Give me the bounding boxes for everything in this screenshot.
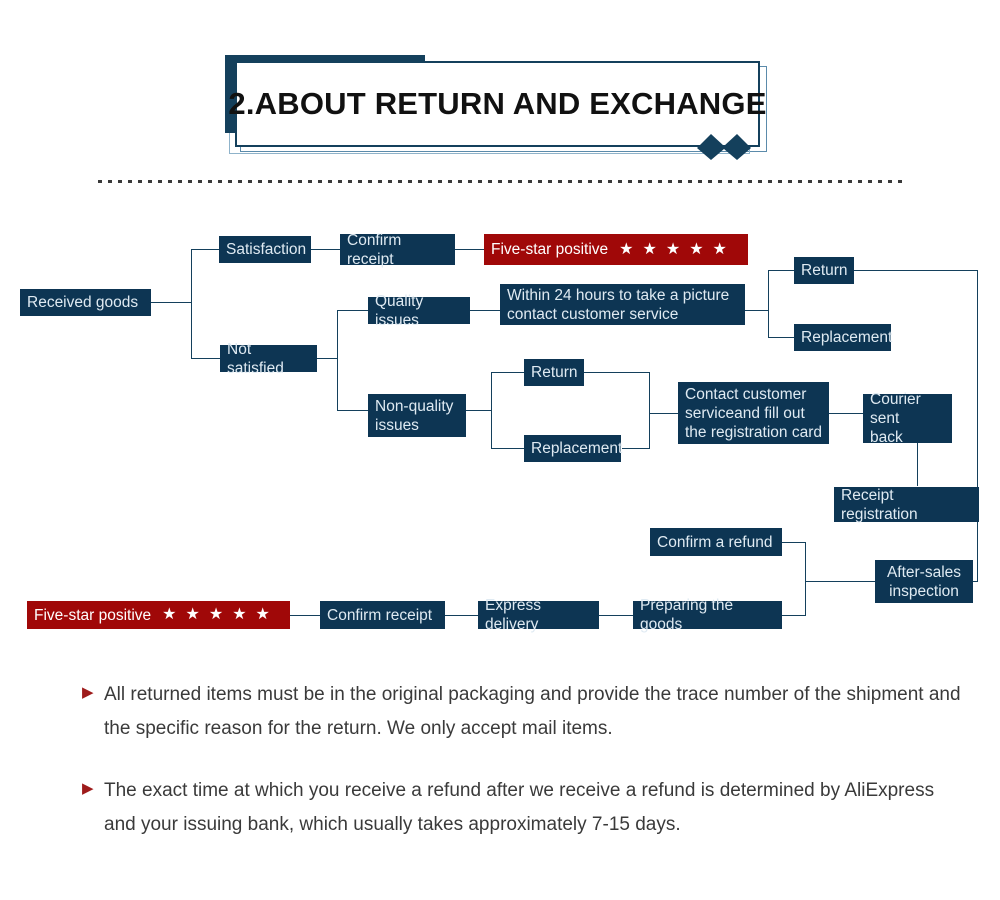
- connector: [768, 270, 769, 337]
- flow-node-received-goods[interactable]: Received goods: [20, 289, 151, 316]
- flow-node-preparing-the-goods[interactable]: Preparing the goods: [633, 601, 782, 629]
- triangle-bullet-icon: ▶: [82, 678, 104, 746]
- flow-node-five-star-positive-bottom[interactable]: Five-star positive ★ ★ ★ ★ ★: [27, 601, 290, 629]
- flow-node-courier-sent-back[interactable]: Courier sent back: [863, 394, 952, 443]
- connector: [454, 249, 485, 250]
- connector: [150, 302, 192, 303]
- connector: [768, 270, 795, 271]
- star-icon: ★: [209, 607, 223, 623]
- connector: [491, 372, 525, 373]
- connector: [649, 413, 679, 414]
- five-star-label-bottom: Five-star positive: [34, 606, 151, 625]
- star-icon: ★: [689, 242, 703, 258]
- connector: [337, 410, 369, 411]
- connector: [917, 443, 918, 486]
- star-icon: ★: [619, 242, 633, 258]
- flow-node-non-quality-issues[interactable]: Non-quality issues: [368, 394, 466, 437]
- page-root: 2.ABOUT RETURN AND EXCHANGE: [0, 0, 1000, 900]
- connector: [191, 249, 221, 250]
- connector: [828, 413, 864, 414]
- connector: [491, 448, 525, 449]
- flow-node-express-delivery[interactable]: Express delivery: [478, 601, 599, 629]
- flow-node-confirm-receipt-bottom[interactable]: Confirm receipt: [320, 601, 445, 629]
- flow-node-confirm-a-refund[interactable]: Confirm a refund: [650, 528, 782, 556]
- triangle-bullet-icon: ▶: [82, 774, 104, 842]
- note-text: The exact time at which you receive a re…: [104, 774, 962, 842]
- flow-node-within-24-hours[interactable]: Within 24 hours to take a picture contac…: [500, 284, 745, 325]
- star-icon: ★: [666, 242, 680, 258]
- connector: [289, 615, 320, 616]
- connector: [337, 310, 338, 410]
- flow-node-contact-customer-service[interactable]: Contact customer serviceand fill out the…: [678, 382, 829, 444]
- note-text: All returned items must be in the origin…: [104, 678, 962, 746]
- star-icon: ★: [186, 607, 200, 623]
- connector: [782, 542, 806, 543]
- flow-node-after-sales-inspection[interactable]: After-sales inspection: [875, 560, 973, 603]
- connector: [853, 270, 977, 271]
- connector: [491, 372, 492, 449]
- connector: [191, 358, 221, 359]
- connector: [649, 372, 650, 449]
- connector: [598, 615, 634, 616]
- flow-node-replacement-mid[interactable]: Replacement: [524, 435, 621, 462]
- flow-node-confirm-receipt-top[interactable]: Confirm receipt: [340, 234, 455, 265]
- flow-node-replacement-top[interactable]: Replacement: [794, 324, 891, 351]
- flow-node-not-satisfied[interactable]: Not satisfied: [220, 345, 317, 372]
- connector: [583, 372, 650, 373]
- connector: [310, 249, 341, 250]
- star-icon: ★: [713, 242, 727, 258]
- flow-node-quality-issues[interactable]: Quality issues: [368, 297, 470, 324]
- five-star-rating-bottom: ★ ★ ★ ★ ★: [162, 607, 270, 623]
- flow-node-receipt-registration[interactable]: Receipt registration: [834, 487, 979, 522]
- connector: [622, 448, 650, 449]
- flow-node-return-mid[interactable]: Return: [524, 359, 584, 386]
- connector: [445, 615, 479, 616]
- connector: [191, 249, 192, 359]
- star-icon: ★: [643, 242, 657, 258]
- connector: [744, 310, 769, 311]
- flow-node-satisfaction[interactable]: Satisfaction: [219, 236, 311, 263]
- star-icon: ★: [232, 607, 246, 623]
- connector: [805, 581, 875, 582]
- note-item: ▶ The exact time at which you receive a …: [82, 774, 962, 842]
- note-item: ▶ All returned items must be in the orig…: [82, 678, 962, 746]
- return-policy-notes: ▶ All returned items must be in the orig…: [82, 678, 962, 870]
- five-star-label-top: Five-star positive: [491, 240, 608, 259]
- five-star-rating-top: ★ ★ ★ ★ ★: [619, 242, 727, 258]
- flow-node-return-top[interactable]: Return: [794, 257, 854, 284]
- connector: [316, 358, 338, 359]
- connector: [782, 615, 806, 616]
- connector: [977, 270, 978, 582]
- star-icon: ★: [256, 607, 270, 623]
- connector: [768, 337, 795, 338]
- connector: [805, 542, 806, 616]
- connector: [465, 410, 492, 411]
- star-icon: ★: [162, 607, 176, 623]
- flow-node-five-star-positive-top[interactable]: Five-star positive ★ ★ ★ ★ ★: [484, 234, 748, 265]
- connector: [469, 310, 501, 311]
- connector: [337, 310, 369, 311]
